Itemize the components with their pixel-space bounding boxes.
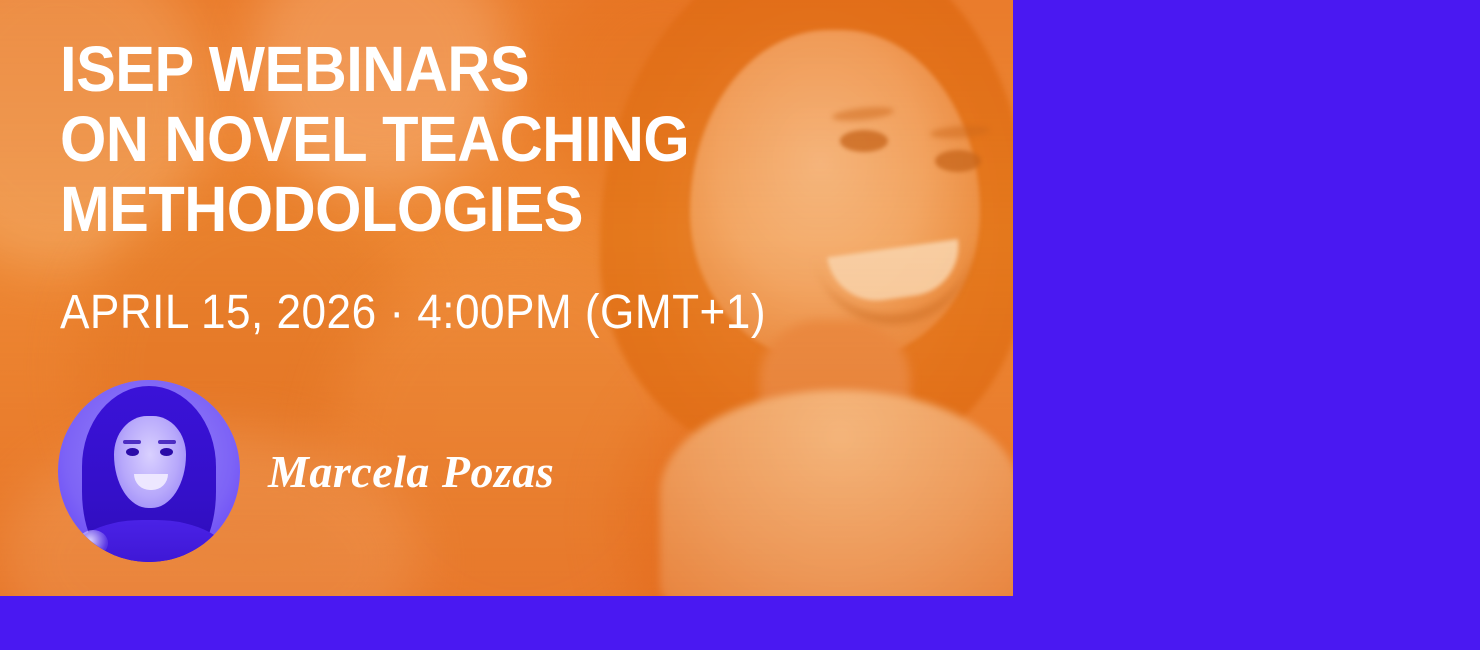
speaker-name: Marcela Pozas: [268, 445, 554, 498]
headline: ISEP WEBINARS ON NOVEL TEACHING METHODOL…: [60, 34, 785, 244]
speaker-block: Marcela Pozas: [58, 380, 554, 562]
headline-line-3: METHODOLOGIES: [60, 174, 785, 244]
avatar-eye: [126, 448, 139, 456]
avatar-highlight: [78, 530, 108, 556]
bottom-purple-band: [0, 596, 1480, 650]
hero-photo-panel: ISEP WEBINARS ON NOVEL TEACHING METHODOL…: [0, 0, 1013, 596]
avatar-eyebrow: [158, 440, 176, 444]
webinar-promo-banner: ISEP WEBINARS ON NOVEL TEACHING METHODOL…: [0, 0, 1480, 650]
headline-line-1: ISEP WEBINARS: [60, 34, 785, 104]
avatar-eye: [160, 448, 173, 456]
event-datetime: APRIL 15, 2026 · 4:00PM (GMT+1): [60, 286, 766, 340]
avatar: [58, 380, 240, 562]
headline-line-2: ON NOVEL TEACHING: [60, 104, 785, 174]
brand-rail: ISEP P.PORTO: [1013, 0, 1480, 650]
avatar-eyebrow: [123, 440, 141, 444]
